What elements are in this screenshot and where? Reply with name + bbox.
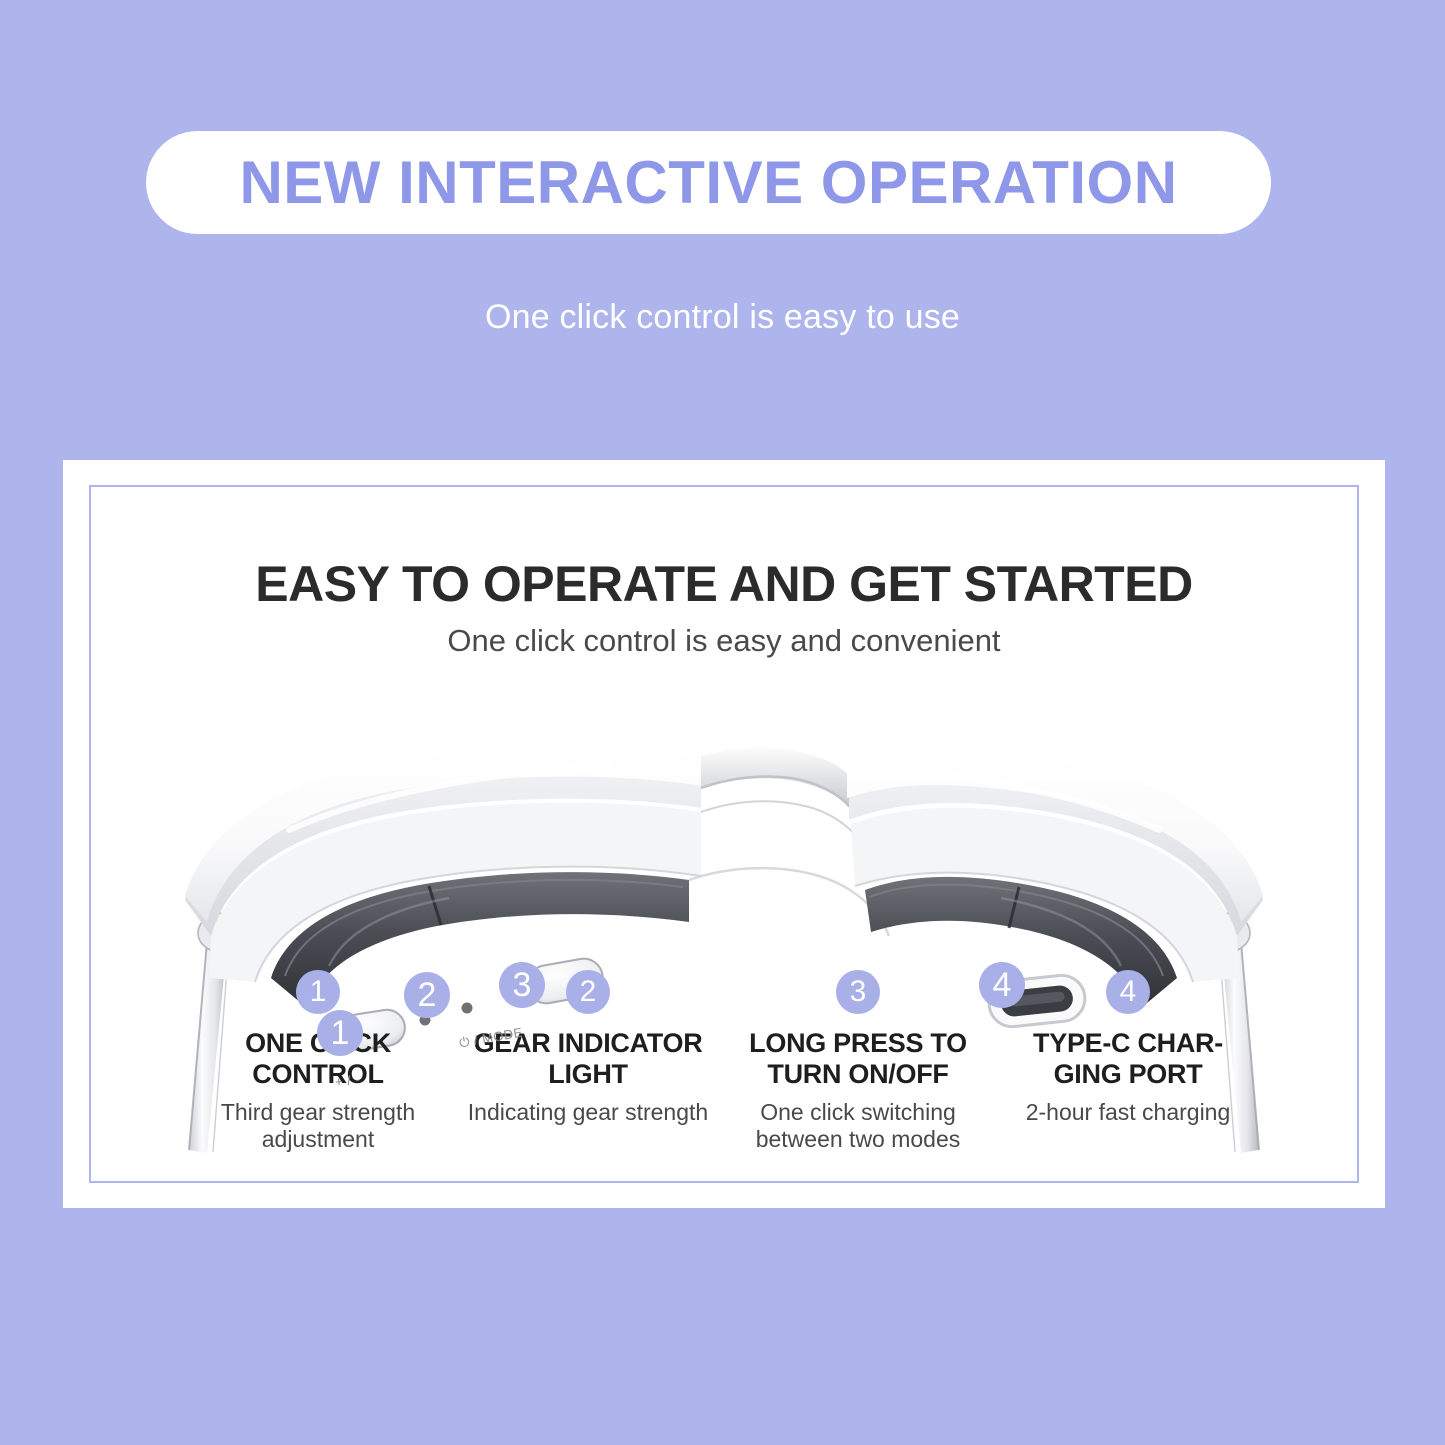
feature-description: Third gear strength adjustment [189,1099,447,1154]
right-wing-shell [847,752,1263,982]
feature-list: 1 ONE CLICK CONTROL Third gear strength … [183,970,1263,1154]
card-heading: EASY TO OPERATE AND GET STARTED [63,555,1385,613]
callout-badge-2[interactable]: 2 [404,972,450,1018]
feature-description: 2-hour fast charging [999,1099,1257,1127]
callout-badge-4[interactable]: 4 [979,962,1025,1008]
feature-item-gear-indicator-light: 2 GEAR INDICATOR LIGHT Indicating gear s… [453,970,723,1154]
feature-badge-3: 3 [836,970,880,1014]
eye-massager-illustration [89,690,1359,990]
feature-badge-1: 1 [296,970,340,1014]
feature-description: Indicating gear strength [459,1099,717,1127]
feature-title: TYPE-C CHAR- GING PORT [999,1028,1257,1090]
card-subheading: One click control is easy and convenient [63,623,1385,659]
feature-item-long-press-power: 3 LONG PRESS TO TURN ON/OFF One click sw… [723,970,993,1154]
hero-subtitle: One click control is easy to use [0,298,1445,337]
callout-badge-3[interactable]: 3 [499,962,545,1008]
feature-badge-2: 2 [566,970,610,1014]
product-image: + / - ⏻ / MODE 1 2 3 4 [89,690,1359,990]
feature-title: LONG PRESS TO TURN ON/OFF [729,1028,987,1090]
feature-description: One click switching between two modes [729,1099,987,1154]
callout-badge-1[interactable]: 1 [317,1010,363,1056]
page-title: NEW INTERACTIVE OPERATION [239,148,1177,217]
feature-item-type-c-port: 4 TYPE-C CHAR- GING PORT 2-hour fast cha… [993,970,1263,1154]
hero-title-pill: NEW INTERACTIVE OPERATION [146,131,1271,234]
info-card: EASY TO OPERATE AND GET STARTED One clic… [63,460,1385,1208]
strength-button-label: + / - [334,1072,361,1090]
feature-badge-4: 4 [1106,970,1150,1014]
